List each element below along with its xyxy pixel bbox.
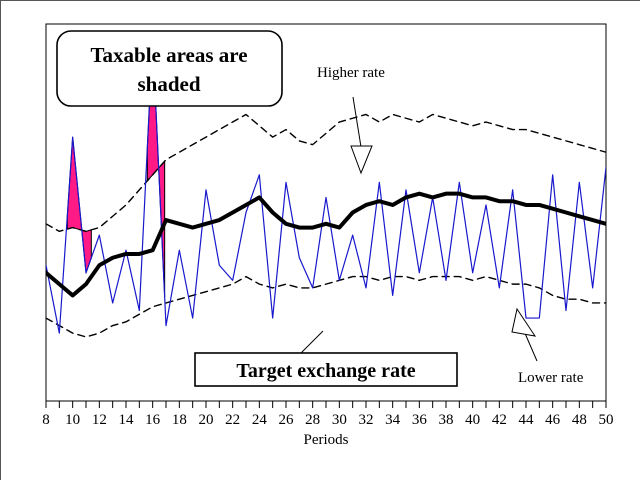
- x-tick-label: 24: [252, 412, 268, 428]
- exchange-rate-chart: 8101214161820222426283032343638404244464…: [1, 1, 640, 481]
- higher-rate-label: Higher rate: [317, 65, 385, 81]
- x-tick-label: 46: [545, 412, 561, 428]
- target-box-label: Target exchange rate: [236, 360, 415, 382]
- x-tick-label: 8: [42, 412, 50, 428]
- x-tick-label: 28: [305, 412, 320, 428]
- x-tick-label: 40: [465, 412, 480, 428]
- x-tick-label: 16: [145, 412, 161, 428]
- figure-frame: 8101214161820222426283032343638404244464…: [0, 0, 640, 480]
- x-tick-label: 42: [492, 412, 507, 428]
- x-tick-label: 48: [572, 412, 587, 428]
- x-tick-label: 30: [332, 412, 347, 428]
- x-tick-label: 20: [199, 412, 214, 428]
- x-tick-label: 26: [279, 412, 295, 428]
- x-axis-title: Periods: [304, 432, 349, 448]
- x-tick-label: 50: [599, 412, 614, 428]
- x-tick-label: 10: [65, 412, 80, 428]
- x-tick-label: 14: [119, 412, 135, 428]
- x-tick-label: 38: [439, 412, 454, 428]
- x-tick-label: 18: [172, 412, 187, 428]
- callout-line-2: shaded: [137, 72, 200, 96]
- taxable-areas-callout: Taxable areas are shaded: [57, 31, 282, 106]
- x-tick-label: 34: [385, 412, 401, 428]
- x-tick-label: 44: [519, 412, 535, 428]
- x-tick-label: 12: [92, 412, 107, 428]
- lower-rate-label: Lower rate: [518, 370, 584, 386]
- x-tick-label: 36: [412, 412, 428, 428]
- x-tick-label: 32: [359, 412, 374, 428]
- x-tick-label: 22: [225, 412, 240, 428]
- callout-line-1: Taxable areas are: [90, 43, 247, 67]
